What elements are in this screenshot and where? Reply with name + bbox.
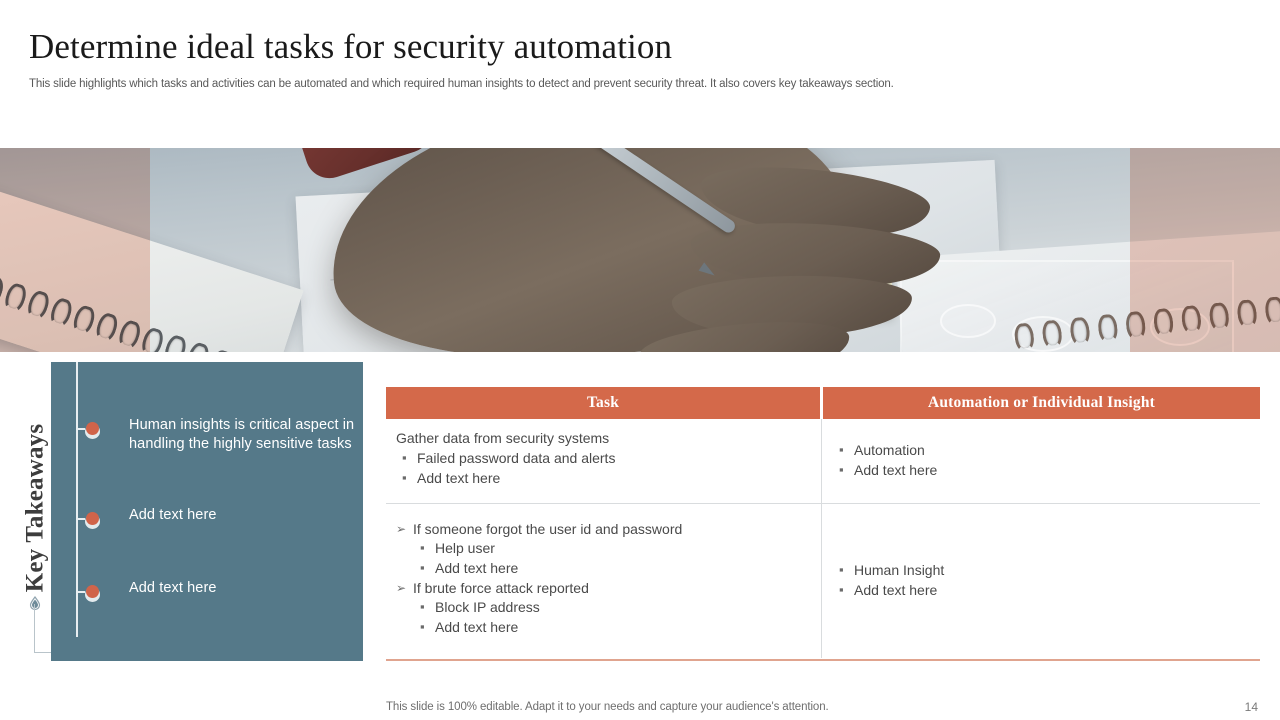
task-group-heading: If someone forgot the user id and passwo… [396, 520, 809, 539]
banner-image [0, 148, 1280, 352]
table-row: Gather data from security systems Failed… [386, 419, 1260, 503]
banner-tint-right [1130, 148, 1280, 352]
list-item: Add text here [396, 469, 809, 488]
page-subtitle: This slide highlights which tasks and ac… [29, 76, 894, 92]
column-header-automation-or-individual-insight: Automation or Individual Insight [823, 387, 1260, 419]
table-bottom-border [386, 659, 1260, 661]
key-takeaway-text: Add text here [129, 506, 387, 525]
task-group-list: If someone forgot the user id and passwo… [396, 520, 809, 637]
banner-photo [0, 148, 1280, 352]
task-lead-text: Gather data from security systems [396, 429, 809, 448]
key-takeaways-label: Key Takeaways [20, 398, 50, 618]
list-item: Automation [833, 441, 1248, 460]
tasks-table: Task Automation or Individual Insight Ga… [386, 387, 1260, 661]
page-title: Determine ideal tasks for security autom… [29, 26, 672, 68]
list-item: Block IP address [414, 598, 809, 617]
task-subbullet-list: Block IP address Add text here [414, 598, 809, 637]
key-takeaways-label-text: Key Takeaways [21, 424, 49, 593]
table-cell-insight: Human Insight Add text here [823, 504, 1260, 658]
task-bullet-list: Failed password data and alerts Add text… [396, 449, 809, 488]
table-cell-task: If someone forgot the user id and passwo… [386, 504, 822, 658]
insight-bullet-list: Human Insight Add text here [833, 561, 1248, 601]
insight-bullet-list: Automation Add text here [833, 441, 1248, 481]
list-item: Human Insight [833, 561, 1248, 580]
table-header-row: Task Automation or Individual Insight [386, 387, 1260, 419]
task-group-heading: If brute force attack reported [396, 579, 809, 598]
list-item: Help user [414, 539, 809, 558]
list-item: Add text here [833, 581, 1248, 600]
table-row: If someone forgot the user id and passwo… [386, 504, 1260, 658]
table-cell-insight: Automation Add text here [823, 419, 1260, 503]
list-item: Failed password data and alerts [396, 449, 809, 468]
page-number: 14 [1245, 700, 1258, 714]
list-item: Add text here [414, 618, 809, 637]
table-cell-task: Gather data from security systems Failed… [386, 419, 822, 503]
key-takeaway-text: Human insights is critical aspect in han… [129, 416, 387, 454]
key-takeaway-dot-icon [84, 511, 101, 528]
task-subbullet-list: Help user Add text here [414, 539, 809, 578]
key-takeaway-dot-icon [84, 421, 101, 438]
key-takeaways-rail [76, 362, 78, 637]
list-item: Add text here [414, 559, 809, 578]
key-takeaway-dot-icon [84, 584, 101, 601]
footer-note: This slide is 100% editable. Adapt it to… [386, 701, 829, 713]
list-item: Add text here [833, 461, 1248, 480]
column-header-task: Task [386, 387, 820, 419]
key-takeaway-text: Add text here [129, 579, 387, 598]
banner-tint-left [0, 148, 150, 352]
